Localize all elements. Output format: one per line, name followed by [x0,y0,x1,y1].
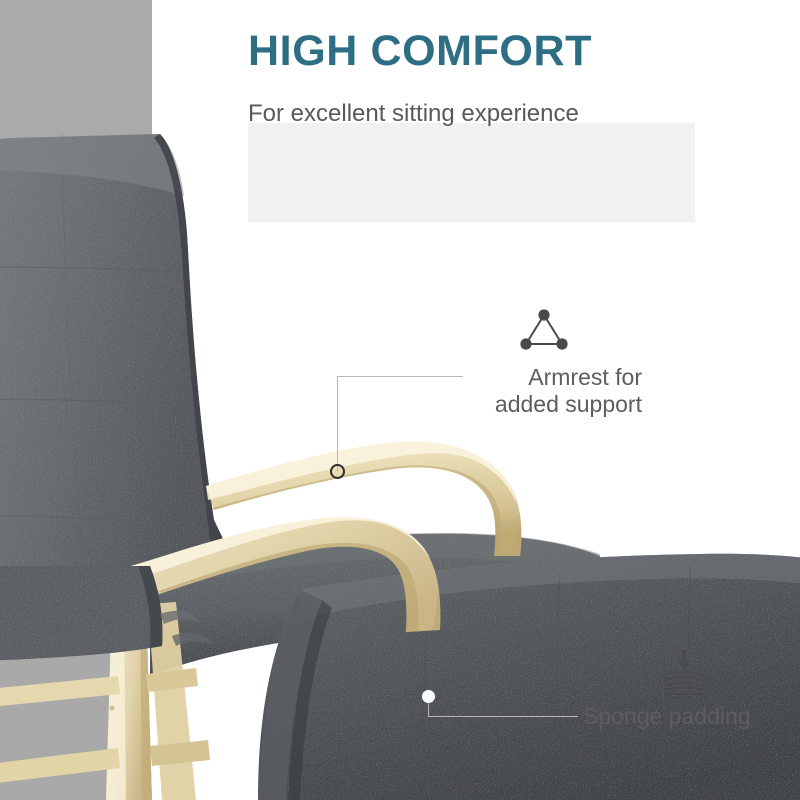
callout-armrest-line2: added support [495,391,642,417]
callout-sponge-text: Sponge padding [583,703,751,730]
callout-armrest-line1: Armrest for [528,364,642,390]
triangle-support-icon [518,306,570,357]
compression-layers-icon [657,646,711,703]
callout-armrest-leader-horizontal [337,376,463,377]
callout-armrest-text: Armrest foradded support [460,364,642,418]
chair-backrest [0,134,236,566]
seat-skirt-left [0,566,163,662]
page-subtitle: For excellent sitting experience [248,100,579,128]
callout-armrest-leader-vertical [337,376,338,472]
callout-sponge-marker [422,690,435,703]
infographic-canvas: HIGH COMFORT For excellent sitting exper… [0,0,800,800]
content-panel [248,123,695,222]
page-title: HIGH COMFORT [248,27,592,76]
callout-armrest-marker [330,464,345,479]
callout-sponge-leader-horizontal [428,716,578,717]
